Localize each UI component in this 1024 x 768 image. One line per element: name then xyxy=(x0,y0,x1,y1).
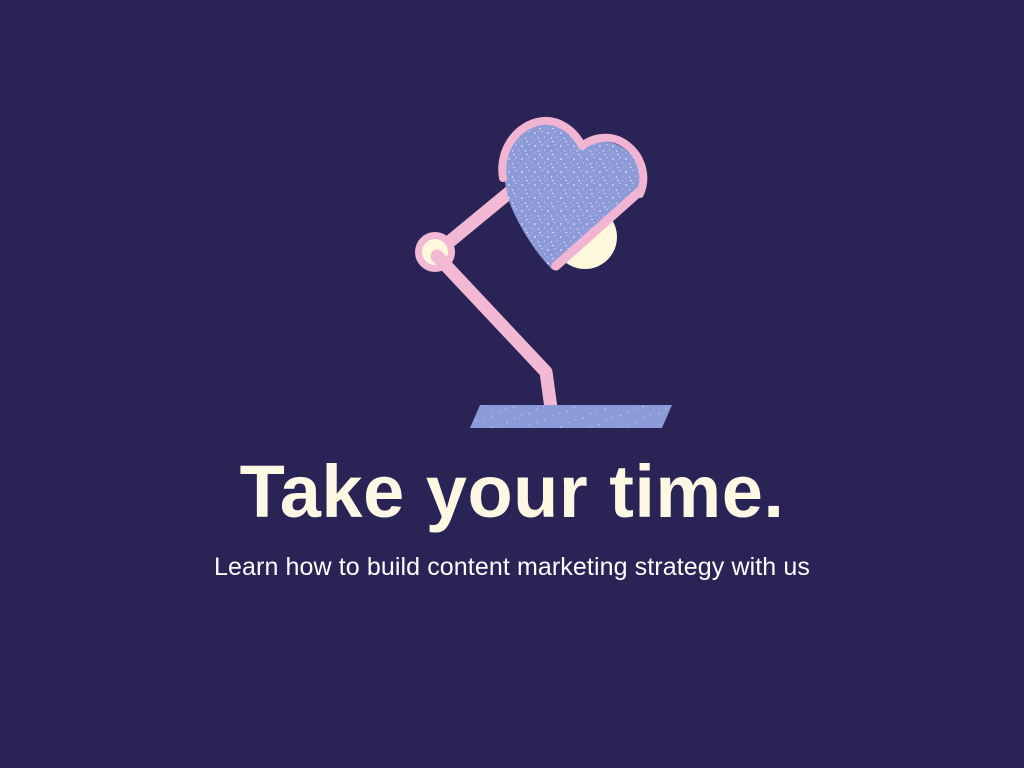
page-subtitle: Learn how to build content marketing str… xyxy=(0,529,1024,580)
lamp-base xyxy=(470,405,672,428)
slide-canvas: Take your time. Learn how to build conte… xyxy=(0,0,1024,768)
page-title: Take your time. xyxy=(0,455,1024,529)
text-block: Take your time. Learn how to build conte… xyxy=(0,455,1024,580)
lamp-lower-arm xyxy=(437,256,551,408)
lamp-shade xyxy=(502,121,643,270)
desk-lamp-illustration xyxy=(0,0,1024,768)
